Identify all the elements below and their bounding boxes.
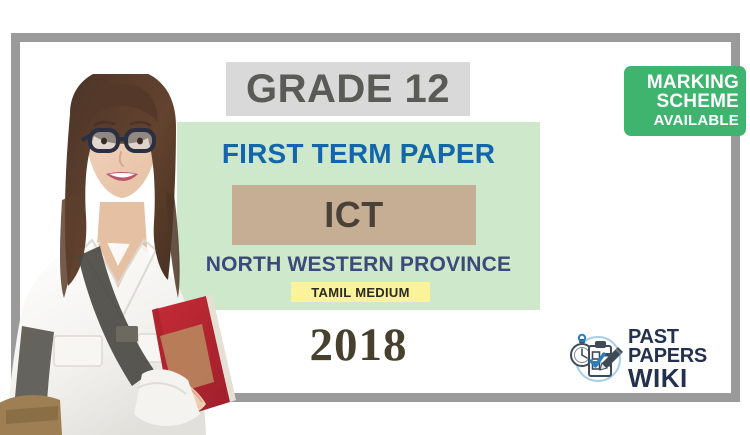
badge-line-3: AVAILABLE bbox=[654, 112, 739, 130]
logo-name-line-2: WIKI bbox=[628, 366, 740, 390]
grade-label-box: GRADE 12 bbox=[226, 62, 470, 116]
subject-box: ICT bbox=[232, 185, 476, 245]
student-photo bbox=[0, 74, 244, 435]
medium-box: TAMIL MEDIUM bbox=[291, 282, 430, 302]
medium-label: TAMIL MEDIUM bbox=[311, 286, 409, 299]
past-papers-wiki-logo[interactable]: PAST PAPERS WIKI bbox=[566, 327, 740, 391]
badge-line-2: SCHEME bbox=[657, 92, 740, 112]
grade-label: GRADE 12 bbox=[246, 69, 450, 109]
past-paper-poster: GRADE 12 FIRST TERM PAPER ICT NORTH WEST… bbox=[0, 0, 750, 435]
logo-name-line-1: PAST PAPERS bbox=[628, 328, 740, 366]
student-photo-illustration bbox=[0, 74, 244, 435]
badge-line-1: MARKING bbox=[647, 73, 739, 92]
marking-scheme-badge: MARKING SCHEME AVAILABLE bbox=[624, 66, 746, 136]
subject-label: ICT bbox=[324, 197, 384, 233]
logo-wordmark: PAST PAPERS WIKI bbox=[628, 328, 740, 390]
stopwatch-clipboard-pencil-icon bbox=[566, 330, 626, 388]
